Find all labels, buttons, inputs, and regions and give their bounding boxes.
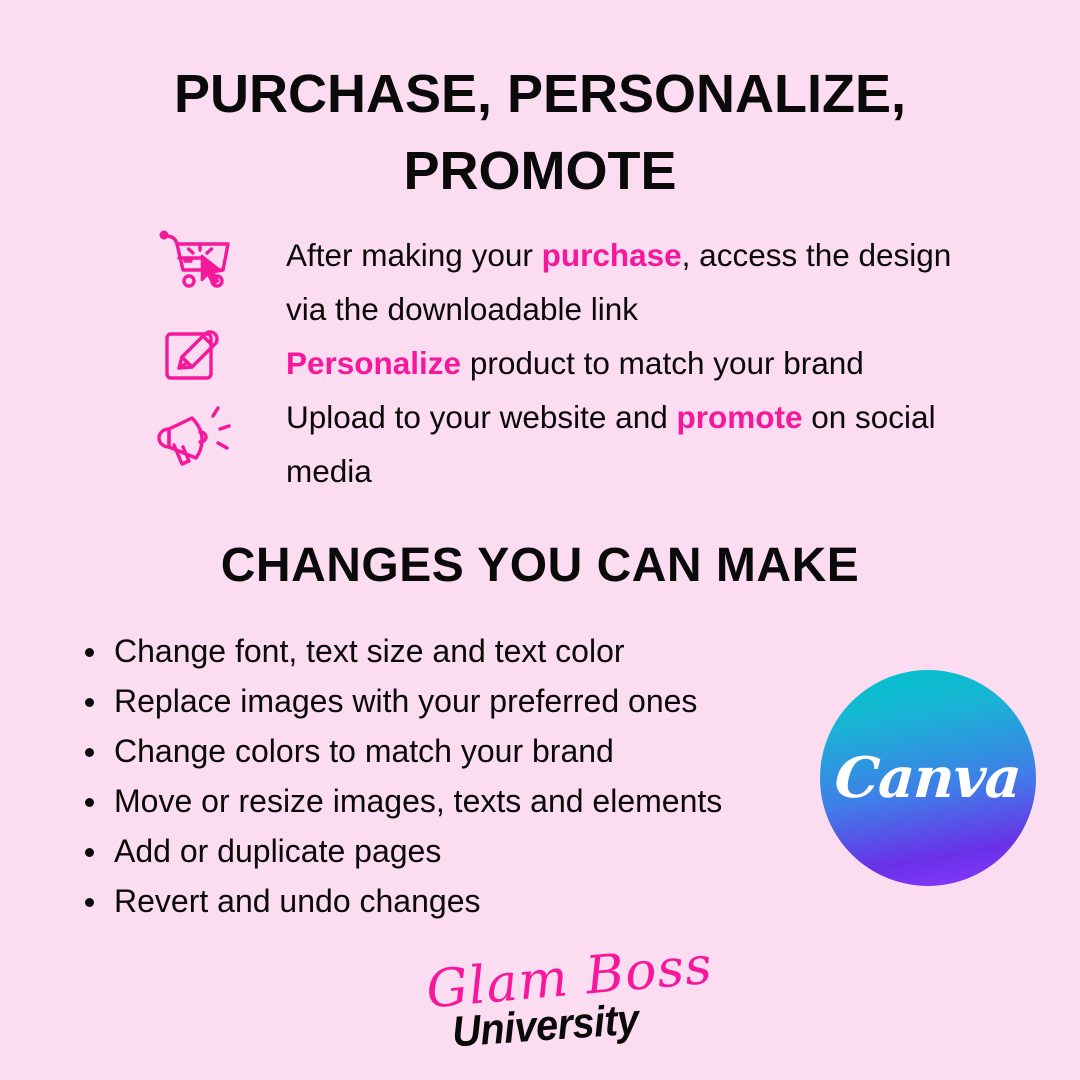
list-item: Change font, text size and text color bbox=[70, 626, 890, 676]
list-item: Revert and undo changes bbox=[70, 876, 890, 926]
brand-boss-word: Boss bbox=[583, 936, 715, 1007]
canva-logo-badge: Canva bbox=[820, 670, 1036, 886]
step-line-2: Personalize product to match your brand bbox=[286, 336, 976, 390]
list-item: Change colors to match your brand bbox=[70, 726, 890, 776]
step-line-1: After making your purchase, access the d… bbox=[286, 228, 976, 336]
step-text-column: After making your purchase, access the d… bbox=[286, 228, 976, 498]
list-item: Replace images with your preferred ones bbox=[70, 676, 890, 726]
megaphone-icon bbox=[156, 404, 246, 473]
step-1-part-1: After making your bbox=[286, 237, 542, 273]
step-line-3: Upload to your website and promote on so… bbox=[286, 390, 976, 498]
step-3-accent: promote bbox=[677, 399, 803, 435]
step-2-accent: Personalize bbox=[286, 345, 461, 381]
step-2-part-1: product to match your brand bbox=[461, 345, 864, 381]
poster-canvas: PURCHASE, PERSONALIZE, PROMOTE bbox=[0, 0, 1080, 1080]
canva-logo-text: Canva bbox=[833, 745, 1023, 811]
page-title: PURCHASE, PERSONALIZE, PROMOTE bbox=[110, 56, 970, 209]
shopping-cart-click-icon bbox=[158, 228, 248, 295]
section-heading-changes: CHANGES YOU CAN MAKE bbox=[90, 538, 990, 593]
list-item: Add or duplicate pages bbox=[70, 826, 890, 876]
changes-list: Change font, text size and text color Re… bbox=[70, 626, 890, 926]
list-item: Move or resize images, texts and element… bbox=[70, 776, 890, 826]
pencil-edit-icon bbox=[164, 326, 254, 389]
step-1-accent: purchase bbox=[542, 237, 682, 273]
brand-logo: Glam Boss University bbox=[0, 944, 1080, 1064]
step-3-part-1: Upload to your website and bbox=[286, 399, 677, 435]
